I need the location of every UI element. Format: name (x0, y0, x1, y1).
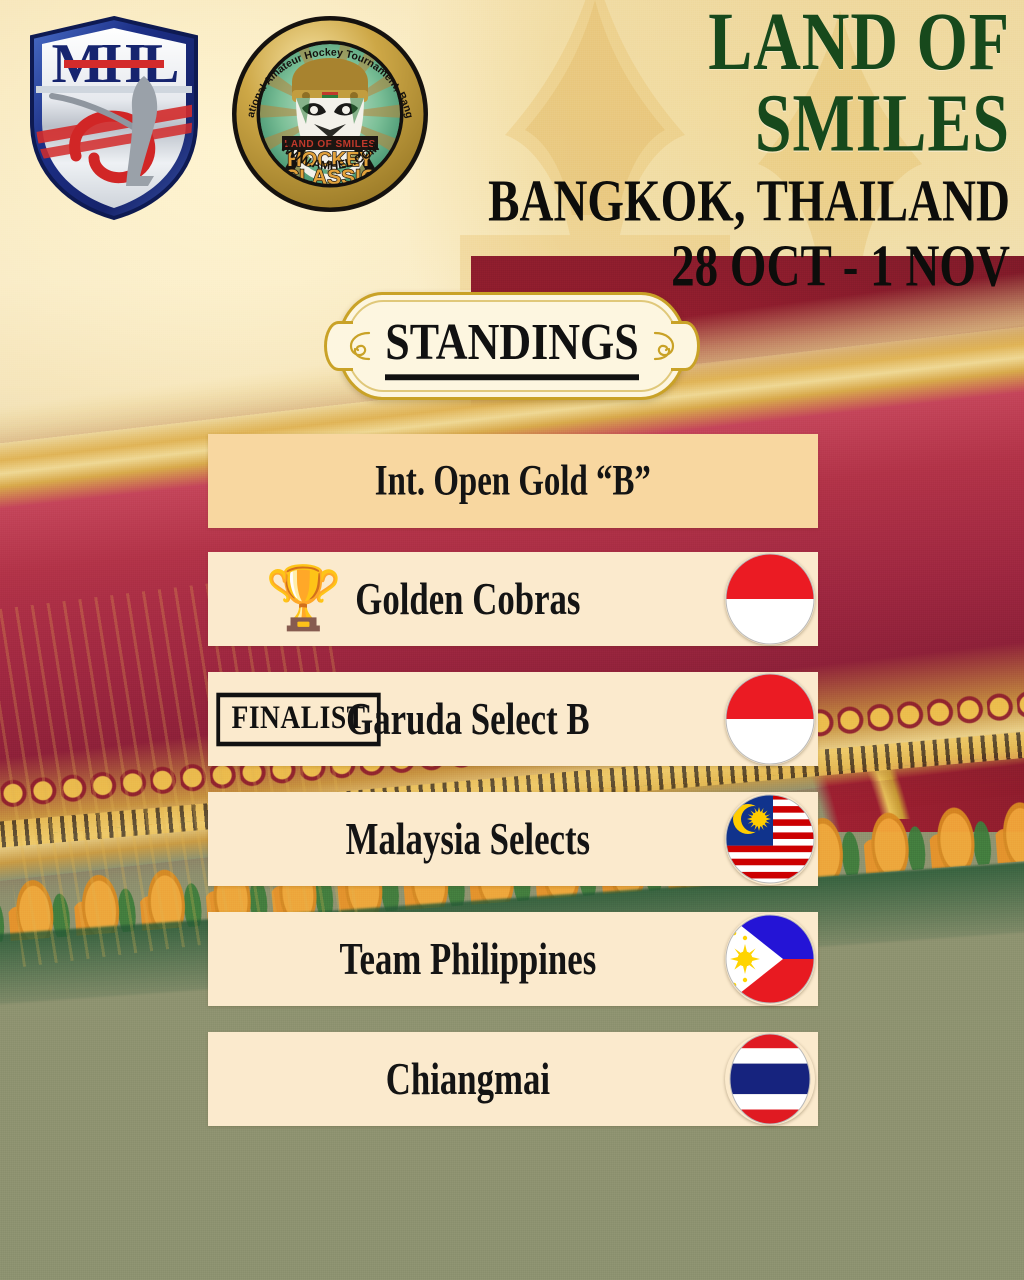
poster-header: MHL (0, 0, 1024, 280)
table-row[interactable]: 🏆 Golden Cobras (208, 552, 818, 646)
team-name: Golden Cobras (226, 572, 799, 625)
table-row[interactable]: FINALIST Garuda Select B (208, 672, 818, 766)
banner-title: STANDINGS (337, 317, 687, 375)
flag-philippines-icon (725, 913, 815, 1005)
team-name: Team Philippines (226, 932, 799, 985)
team-name: Garuda Select B (226, 692, 799, 745)
banner-title-text: STANDINGS (385, 312, 638, 380)
category-label: Int. Open Gold “B” (375, 456, 651, 506)
team-name: Chiangmai (226, 1052, 799, 1105)
header-location: BANGKOK, THAILAND (472, 171, 1010, 230)
team-name: Malaysia Selects (226, 812, 799, 865)
category-row: Int. Open Gold “B” (208, 434, 818, 528)
standings-table: Int. Open Gold “B” 🏆 Golden Cobras FINAL… (208, 434, 818, 1152)
mhl-shield-logo: MHL (18, 12, 210, 224)
flag-malaysia-icon (725, 793, 815, 885)
header-title-block: LAND OF SMILES BANGKOK, THAILAND 28 OCT … (450, 30, 1010, 295)
table-row[interactable]: Team Philippines (208, 912, 818, 1006)
flag-thailand-icon (725, 1033, 815, 1125)
table-row[interactable]: Malaysia Selects (208, 792, 818, 886)
flag-indonesia-icon (725, 553, 815, 645)
land-of-smiles-hockey-classic-logo: LAND OF SMILES HOCKEY CLASSIC Annual Int… (230, 12, 430, 217)
standings-banner: STANDINGS (337, 292, 687, 400)
page-title: LAND OF SMILES (467, 1, 1010, 164)
header-dates: 28 OCT - 1 NOV (472, 236, 1010, 295)
flag-indonesia-icon (725, 673, 815, 765)
table-row[interactable]: Chiangmai (208, 1032, 818, 1126)
